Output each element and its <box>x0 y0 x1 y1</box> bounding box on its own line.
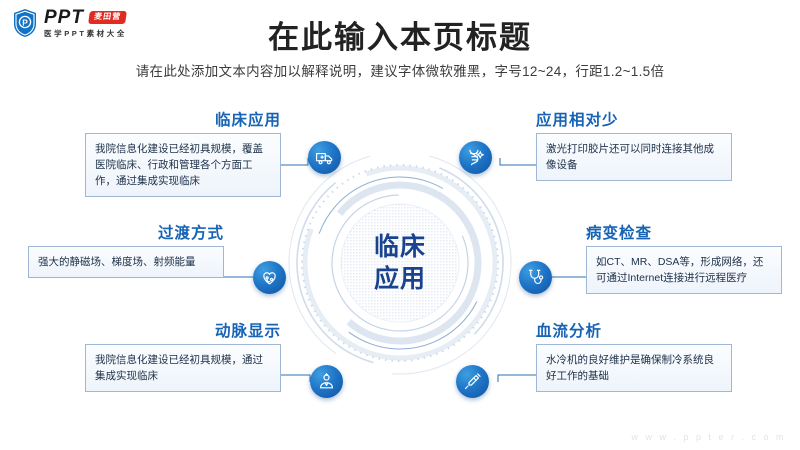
doctor-icon <box>317 372 336 391</box>
block-heading: 动脉显示 <box>85 324 281 340</box>
center-label-line2: 应用 <box>374 263 426 295</box>
page-subtitle: 请在此处添加文本内容加以解释说明，建议字体微软雅黑，字号12~24，行距1.2~… <box>0 60 800 80</box>
icon-node-transition-mode[interactable] <box>253 261 286 294</box>
ambulance-icon <box>315 148 334 167</box>
block-transition-mode[interactable]: 过渡方式 强大的静磁场、梯度场、射频能量 <box>28 226 224 278</box>
block-body: 我院信息化建设已经初具规模，覆盖医院临床、行政和管理各个方面工作，通过集成实现临… <box>85 133 281 198</box>
block-heading: 临床应用 <box>85 113 281 129</box>
site-watermark: w w w . p p t e r . c o m <box>631 432 786 442</box>
block-body: 我院信息化建设已经初具规模，通过集成实现临床 <box>85 344 281 393</box>
block-clinical-application[interactable]: 临床应用 我院信息化建设已经初具规模，覆盖医院临床、行政和管理各个方面工作，通过… <box>85 113 281 197</box>
block-heading: 过渡方式 <box>28 226 224 242</box>
block-heading: 病变检查 <box>586 226 782 242</box>
block-body: 强大的静磁场、梯度场、射频能量 <box>28 246 224 278</box>
dna-icon <box>466 148 485 167</box>
icon-node-relatively-few-applications[interactable] <box>459 141 492 174</box>
page-title: 在此输入本页标题 <box>0 12 800 57</box>
icon-node-artery-display[interactable] <box>310 365 343 398</box>
block-heading: 应用相对少 <box>536 113 732 129</box>
center-label: 临床 应用 <box>287 150 513 376</box>
stethoscope-icon <box>526 268 545 287</box>
block-body: 激光打印胶片还可以同时连接其他成像设备 <box>536 133 732 182</box>
block-blood-flow-analysis[interactable]: 血流分析 水冷机的良好维护是确保制冷系统良好工作的基础 <box>536 324 732 392</box>
icon-node-lesion-examination[interactable] <box>519 261 552 294</box>
block-relatively-few-applications[interactable]: 应用相对少 激光打印胶片还可以同时连接其他成像设备 <box>536 113 732 181</box>
block-artery-display[interactable]: 动脉显示 我院信息化建设已经初具规模，通过集成实现临床 <box>85 324 281 392</box>
icon-node-blood-flow-analysis[interactable] <box>456 365 489 398</box>
block-lesion-examination[interactable]: 病变检查 如CT、MR、DSA等，形成网络，还可通过Internet连接进行远程… <box>586 226 782 294</box>
block-body: 如CT、MR、DSA等，形成网络，还可通过Internet连接进行远程医疗 <box>586 246 782 295</box>
heart-stethoscope-icon <box>260 268 279 287</box>
center-label-line1: 临床 <box>374 231 426 263</box>
block-heading: 血流分析 <box>536 324 732 340</box>
syringe-icon <box>463 372 482 391</box>
block-body: 水冷机的良好维护是确保制冷系统良好工作的基础 <box>536 344 732 393</box>
icon-node-clinical-application[interactable] <box>308 141 341 174</box>
